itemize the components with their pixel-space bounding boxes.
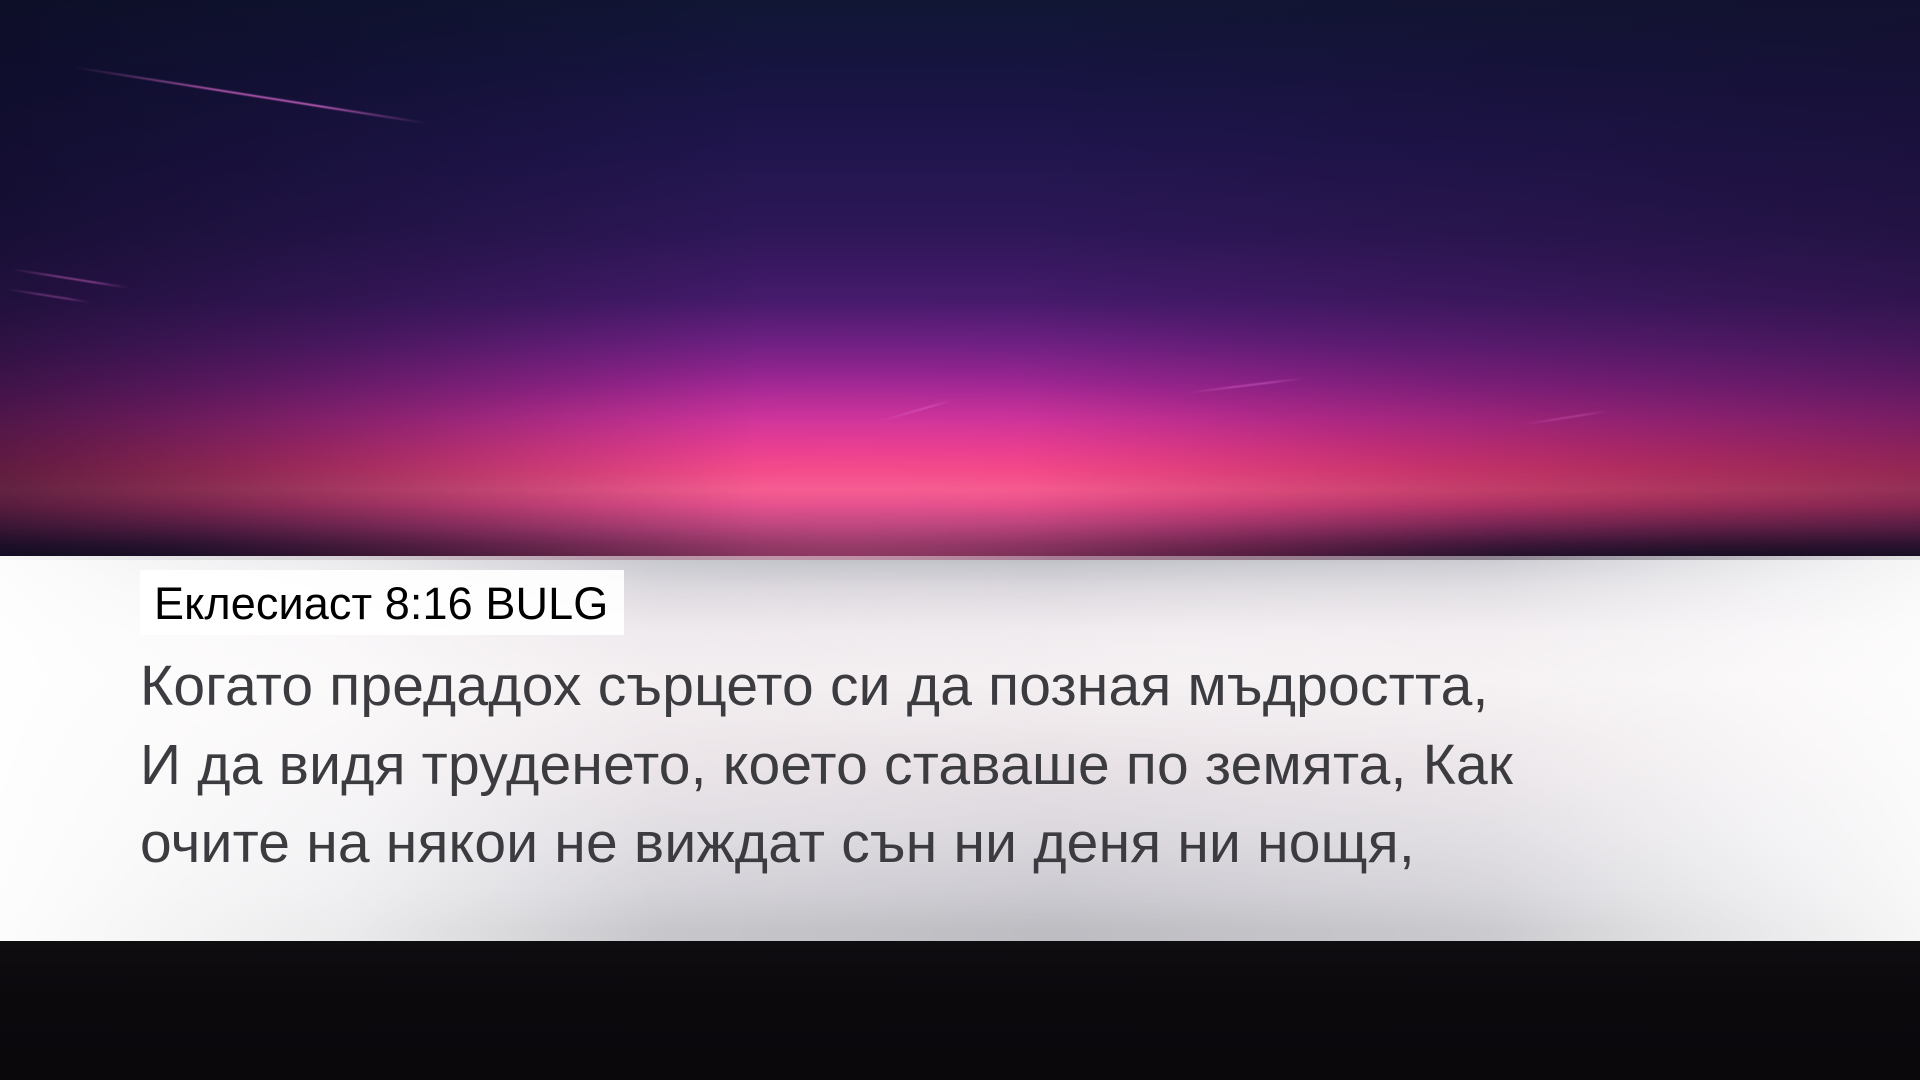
verse-line: И да видя труденето, което ставаше по зе… [140, 726, 1860, 805]
bottom-dark-foreground [0, 941, 1920, 1080]
verse-image-canvas: Еклесиаст 8:16 BULG Когато предадох сърц… [0, 0, 1920, 1080]
verse-body: Когато предадох сърцето си да позная мъд… [140, 647, 1860, 883]
sky-shading-right [1020, 0, 1920, 560]
sky-shading-left [0, 0, 760, 560]
verse-line: очите на някои не виждат сън ни деня ни … [140, 804, 1860, 883]
verse-line: Когато предадох сърцето си да позная мъд… [140, 647, 1860, 726]
verse-reference: Еклесиаст 8:16 BULG [140, 570, 624, 635]
